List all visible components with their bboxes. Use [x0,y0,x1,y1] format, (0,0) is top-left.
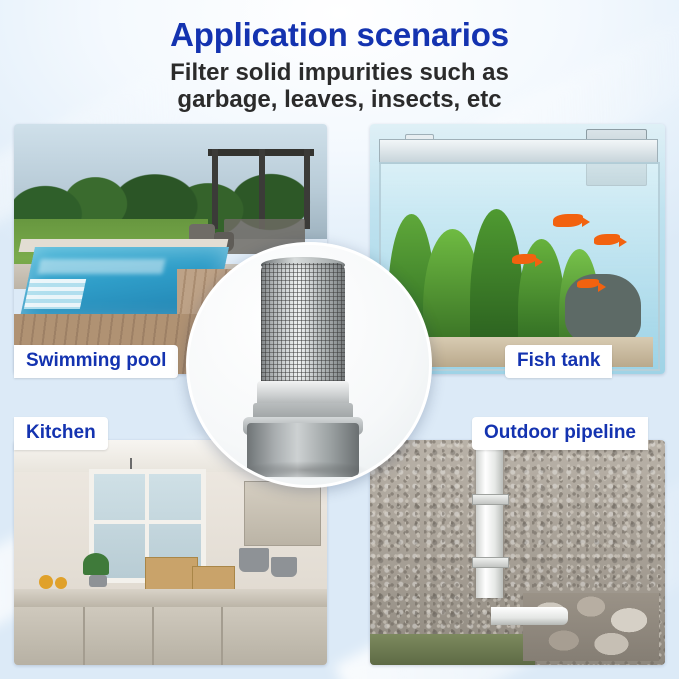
product-shadow [241,461,369,479]
grass-patch [370,634,535,666]
downpipe-vertical [476,440,503,598]
upper-cabinet [244,481,321,546]
stone-ground [523,593,659,661]
goldfish [512,254,536,264]
page-title: Application scenarios [0,18,679,53]
cooking-pot [271,557,297,577]
plant-pot [89,575,107,587]
label-swimming-pool: Swimming pool [14,345,178,378]
page-subtitle-line-2: garbage, leaves, insects, etc [60,86,619,114]
cabinet-seam [152,607,154,666]
pipe-clamp [472,494,509,505]
mesh-strainer-basket [261,263,345,385]
cabinet-seam [83,607,85,666]
label-outdoor-pipeline: Outdoor pipeline [472,417,648,450]
cooking-pot [239,548,269,572]
downpipe-outlet [491,607,568,625]
kitchen-counter [14,589,327,607]
label-fish-tank: Fish tank [505,345,612,378]
water-highlight [37,259,165,274]
header: Application scenarios Filter solid impur… [0,0,679,114]
pipe-clamp [472,557,509,568]
pergola [208,149,314,229]
pergola-post [259,149,265,229]
pergola-post [212,149,218,229]
goldfish [553,214,583,227]
cabinet-seam [221,607,223,666]
page-subtitle: Filter solid impurities such as garbage,… [0,59,679,114]
goldfish [577,279,599,288]
tank-rim [379,139,658,164]
goldfish [594,234,620,245]
pergola-post [304,149,310,229]
outdoor-pipeline-photo [370,440,665,665]
product-inset-circle [186,242,432,488]
label-kitchen: Kitchen [14,417,108,450]
fruit-bowl-item [39,575,53,589]
window-mullion [94,520,200,524]
fruit-bowl-item [55,577,67,589]
potted-plant [83,553,109,575]
lower-cabinets [14,607,327,666]
page-subtitle-line-1: Filter solid impurities such as [60,59,619,87]
application-scenarios-infographic: Application scenarios Filter solid impur… [0,0,679,679]
pool-steps [23,279,86,309]
